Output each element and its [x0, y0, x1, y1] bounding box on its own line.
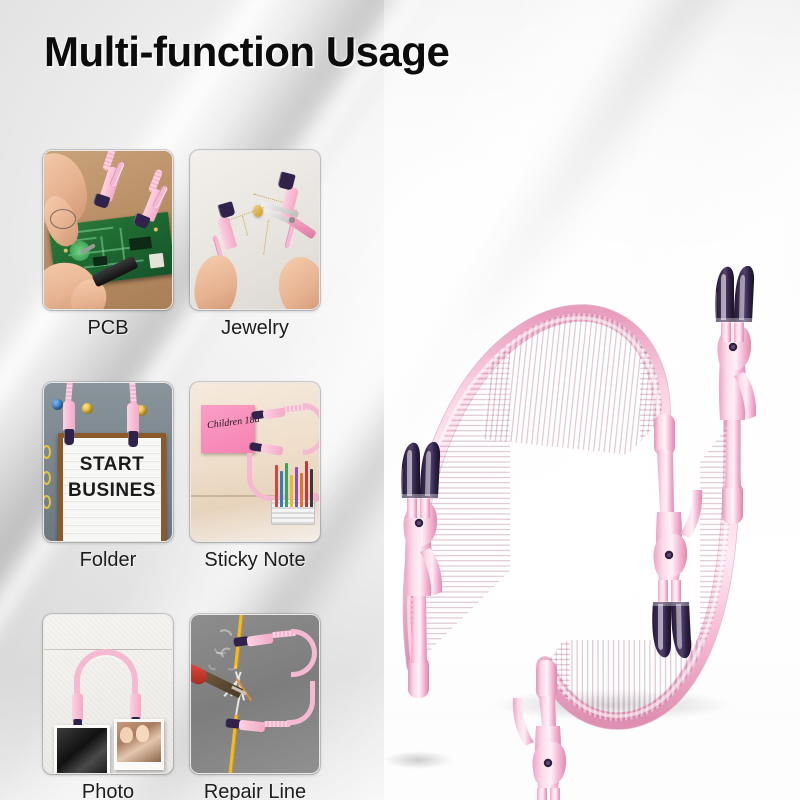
- usage-card-photo[interactable]: [43, 614, 173, 774]
- collar-sleeve: [654, 414, 675, 456]
- pivot-rivet-highlight: [417, 521, 421, 525]
- clamp-jaw: [537, 788, 547, 800]
- pencil-cup-group: [271, 465, 315, 525]
- photo-image: [57, 728, 107, 773]
- collar-sleeve: [536, 660, 557, 700]
- letterboard-line: START: [63, 454, 161, 476]
- folder-scene: START BUSINES: [44, 383, 172, 541]
- letterboard-felt: START BUSINES: [63, 438, 161, 541]
- clamp-handle: [657, 450, 674, 512]
- usage-cell-sticky-note[interactable]: Children 18a: [190, 382, 320, 572]
- clamp-handle: [539, 696, 556, 726]
- usage-card-pcb[interactable]: [43, 150, 173, 310]
- clamp-moving-jaw: [680, 490, 702, 538]
- usage-card-repair-line[interactable]: [190, 614, 320, 774]
- pcb-scene: [44, 151, 172, 309]
- usage-thumbnail-grid: PCB: [43, 150, 339, 800]
- clamp-handle: [411, 596, 427, 663]
- clamp-body: [127, 403, 139, 433]
- jewelry-scene: [191, 151, 319, 309]
- clamp-body: [72, 693, 83, 721]
- photo-frame: [114, 719, 164, 770]
- usage-cell-pcb[interactable]: PCB: [43, 150, 173, 340]
- photo-frame: [54, 725, 110, 773]
- rubber-tip: [64, 429, 74, 445]
- collar-sleeve: [722, 482, 743, 524]
- rubber-tip: [713, 266, 754, 323]
- clamp-handle: [725, 420, 741, 488]
- pencil: [305, 461, 308, 507]
- usage-cell-jewelry[interactable]: Jewelry: [190, 150, 320, 340]
- clamp-mid-left: [399, 442, 442, 698]
- photo-scene: [44, 615, 172, 773]
- flexible-gooseneck-clamp-pair: [360, 120, 800, 800]
- usage-card-jewelry[interactable]: [190, 150, 320, 310]
- pencil: [310, 469, 313, 507]
- pivot-rivet-highlight: [667, 553, 671, 557]
- grid-row: START BUSINES Folder: [43, 382, 339, 572]
- product-shadow: [384, 751, 452, 769]
- pencil: [275, 465, 278, 507]
- usage-cell-photo[interactable]: Photo: [43, 614, 173, 800]
- usage-card-label: Repair Line: [190, 781, 320, 800]
- pencil: [290, 475, 293, 507]
- usage-card-label: PCB: [43, 317, 173, 340]
- gooseneck-arm-right: [530, 400, 760, 750]
- pencil: [300, 473, 303, 507]
- rubber-tip: [128, 431, 138, 447]
- pliers-pivot: [289, 217, 295, 223]
- sticky-note: Children 18a: [201, 405, 255, 453]
- pivot-rivet-highlight: [546, 761, 550, 765]
- usage-card-label: Jewelry: [190, 317, 320, 340]
- hero-product-image: [360, 120, 800, 800]
- rubber-tip: [399, 442, 440, 499]
- clamp-body: [130, 693, 141, 719]
- pivot-rivet-highlight: [731, 345, 735, 349]
- pushpin-yellow: [82, 403, 93, 414]
- usage-card-sticky-note[interactable]: Children 18a: [190, 382, 320, 542]
- usage-card-label: Sticky Note: [190, 549, 320, 572]
- grid-row: Photo: [43, 614, 339, 800]
- pencil: [295, 467, 298, 507]
- usage-cell-repair-line[interactable]: Repair Line: [190, 614, 320, 800]
- letterboard-line: BUSINES: [63, 480, 161, 502]
- repair-line-scene: [191, 615, 319, 773]
- usage-card-label: Photo: [43, 781, 173, 800]
- clamp-mid-right: [651, 414, 702, 658]
- clamp-body: [63, 401, 75, 431]
- usage-card-folder[interactable]: START BUSINES: [43, 382, 173, 542]
- letterboard-frame: START BUSINES: [58, 433, 166, 541]
- clamp-jaw: [550, 788, 560, 800]
- gooseneck-arm-curve: [303, 403, 319, 455]
- pencil: [280, 471, 283, 507]
- sticky-note-scene: Children 18a: [191, 383, 319, 541]
- grid-row: PCB: [43, 150, 339, 340]
- pushpin-blue: [52, 399, 63, 410]
- photo-image: [117, 722, 161, 762]
- usage-cell-folder[interactable]: START BUSINES Folder: [43, 382, 173, 572]
- pencil: [285, 463, 288, 507]
- page-title: Multi-function Usage: [44, 28, 449, 76]
- usage-card-label: Folder: [43, 549, 173, 572]
